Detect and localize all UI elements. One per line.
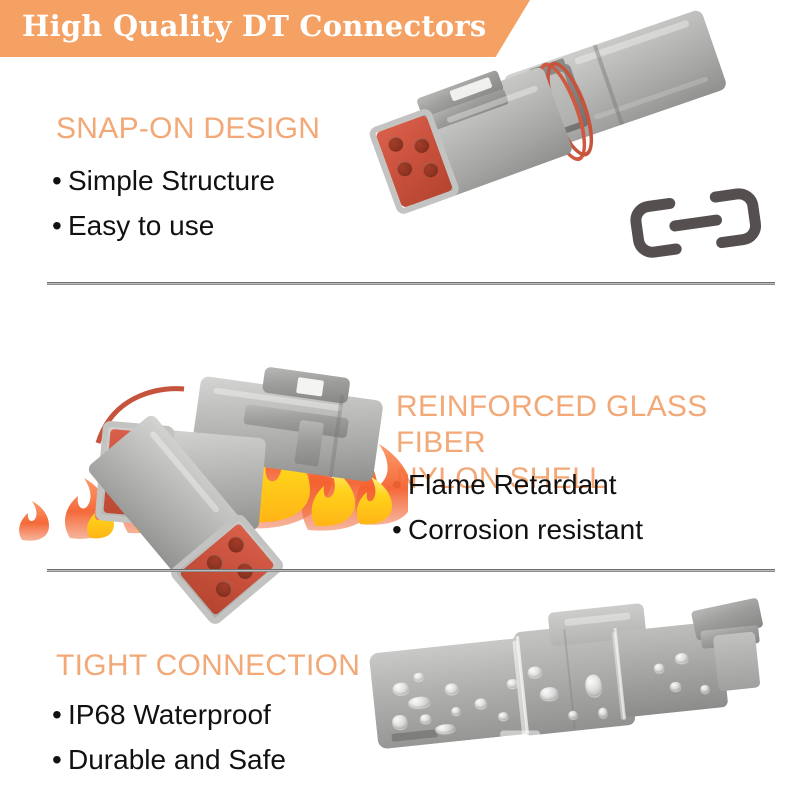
section-divider	[47, 569, 775, 572]
chain-link-icon	[625, 186, 767, 264]
list-item-label: Simple Structure	[68, 165, 275, 196]
list-item-label: Durable and Safe	[68, 744, 286, 775]
bullet-list-snap-on-design: •Simple Structure •Easy to use	[52, 158, 275, 248]
bullet-marker-icon: •	[52, 158, 68, 203]
section-heading-snap-on-design: SNAP-ON DESIGN	[56, 111, 320, 147]
bullet-marker-icon: •	[52, 692, 68, 737]
bullet-marker-icon: •	[52, 203, 68, 248]
product-image-connectors-flames	[80, 355, 390, 560]
list-item: •Easy to use	[52, 203, 275, 248]
bullet-marker-icon: •	[52, 737, 68, 782]
section-heading-tight-connection: TIGHT CONNECTION	[56, 648, 360, 684]
list-item-label: IP68 Waterproof	[68, 699, 271, 730]
list-item-label: Easy to use	[68, 210, 214, 241]
product-image-waterproof-connector	[370, 628, 790, 778]
list-item: •Flame Retardant	[392, 462, 643, 507]
bullet-list-tight-connection: •IP68 Waterproof •Durable and Safe	[52, 692, 286, 782]
list-item-label: Corrosion resistant	[408, 514, 643, 545]
list-item: •Simple Structure	[52, 158, 275, 203]
section-divider	[47, 282, 775, 285]
page-title: High Quality DT Connectors	[22, 9, 486, 43]
list-item: •Durable and Safe	[52, 737, 286, 782]
bullet-list-reinforced-shell: •Flame Retardant •Corrosion resistant	[392, 462, 643, 552]
list-item: •Corrosion resistant	[392, 507, 643, 552]
list-item-label: Flame Retardant	[408, 469, 617, 500]
list-item: •IP68 Waterproof	[52, 692, 286, 737]
